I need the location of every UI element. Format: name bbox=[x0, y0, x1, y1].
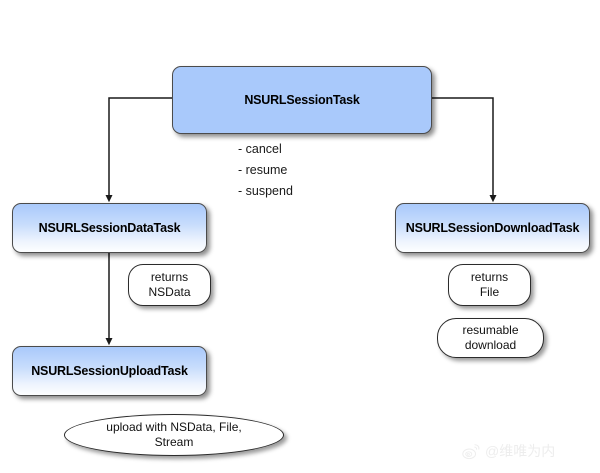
callout-returns-file: returns File bbox=[448, 264, 531, 306]
method-item-resume: - resume bbox=[238, 160, 293, 181]
callout-line-2: download bbox=[462, 338, 518, 353]
edge-root-to-downloadtask bbox=[432, 98, 493, 198]
weibo-logo-icon bbox=[462, 443, 481, 460]
callout-resumable-download: resumable download bbox=[437, 318, 544, 358]
node-nsurlsessiontask[interactable]: NSURLSessionTask bbox=[172, 66, 432, 134]
edge-root-to-datatask bbox=[109, 98, 172, 198]
callout-line-2: File bbox=[471, 285, 508, 300]
node-label: NSURLSessionTask bbox=[244, 93, 359, 107]
callout-upload-sources: upload with NSData, File, Stream bbox=[64, 414, 284, 456]
callout-line-2: Stream bbox=[106, 435, 241, 450]
callout-line-1: returns bbox=[471, 270, 508, 285]
watermark-text: @维唯为内 bbox=[485, 441, 555, 461]
node-nsurlsessionuploadtask[interactable]: NSURLSessionUploadTask bbox=[12, 346, 207, 396]
callout-line-1: returns bbox=[148, 270, 190, 285]
method-list: - cancel - resume - suspend bbox=[238, 139, 293, 202]
node-nsurlsessiondatatask[interactable]: NSURLSessionDataTask bbox=[12, 203, 207, 253]
diagram-canvas: NSURLSessionTask NSURLSessionDataTask NS… bbox=[0, 0, 600, 473]
weibo-watermark: @维唯为内 bbox=[462, 441, 555, 461]
node-label: NSURLSessionUploadTask bbox=[31, 364, 188, 378]
callout-line-1: upload with NSData, File, bbox=[106, 420, 241, 435]
method-item-suspend: - suspend bbox=[238, 181, 293, 202]
method-item-cancel: - cancel bbox=[238, 139, 293, 160]
node-label: NSURLSessionDownloadTask bbox=[406, 221, 579, 235]
callout-line-1: resumable bbox=[462, 323, 518, 338]
callout-line-2: NSData bbox=[148, 285, 190, 300]
node-nsurlsessiondownloadtask[interactable]: NSURLSessionDownloadTask bbox=[395, 203, 590, 253]
node-label: NSURLSessionDataTask bbox=[39, 221, 181, 235]
callout-returns-nsdata: returns NSData bbox=[128, 264, 211, 306]
